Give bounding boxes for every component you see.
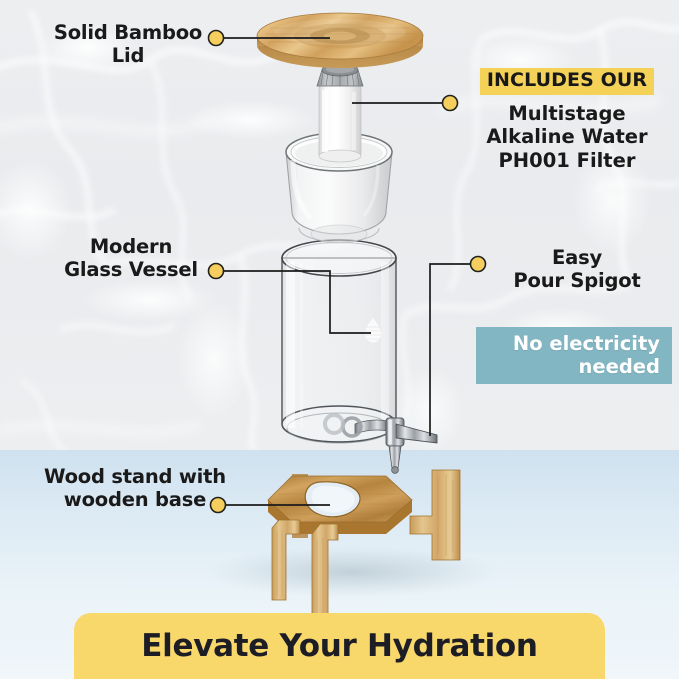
leader-line-vessel — [222, 271, 371, 333]
callout-label-lid: Solid Bamboo Lid — [40, 22, 216, 67]
callout-dot-spigot[interactable] — [471, 257, 486, 272]
callout-label-vessel: Modern Glass Vessel — [48, 236, 214, 281]
callout-dot-filter[interactable] — [443, 96, 458, 111]
bottom-banner: Elevate Your Hydration — [74, 613, 605, 679]
includes-our-chip: INCLUDES OUR — [480, 68, 654, 95]
callout-block-filter: INCLUDES OUR Multistage Alkaline Water P… — [470, 68, 664, 172]
infographic-canvas: Solid Bamboo Lid Modern Glass Vessel Woo… — [0, 0, 679, 679]
callout-label-spigot: Easy Pour Spigot — [498, 247, 656, 292]
callout-label-filter: Multistage Alkaline Water PH001 Filter — [470, 102, 664, 172]
callout-label-stand: Wood stand with wooden base — [32, 466, 238, 511]
no-electricity-badge: No electricity needed — [476, 327, 672, 384]
leader-line-spigot — [430, 264, 472, 436]
bottom-banner-text: Elevate Your Hydration — [141, 628, 537, 664]
